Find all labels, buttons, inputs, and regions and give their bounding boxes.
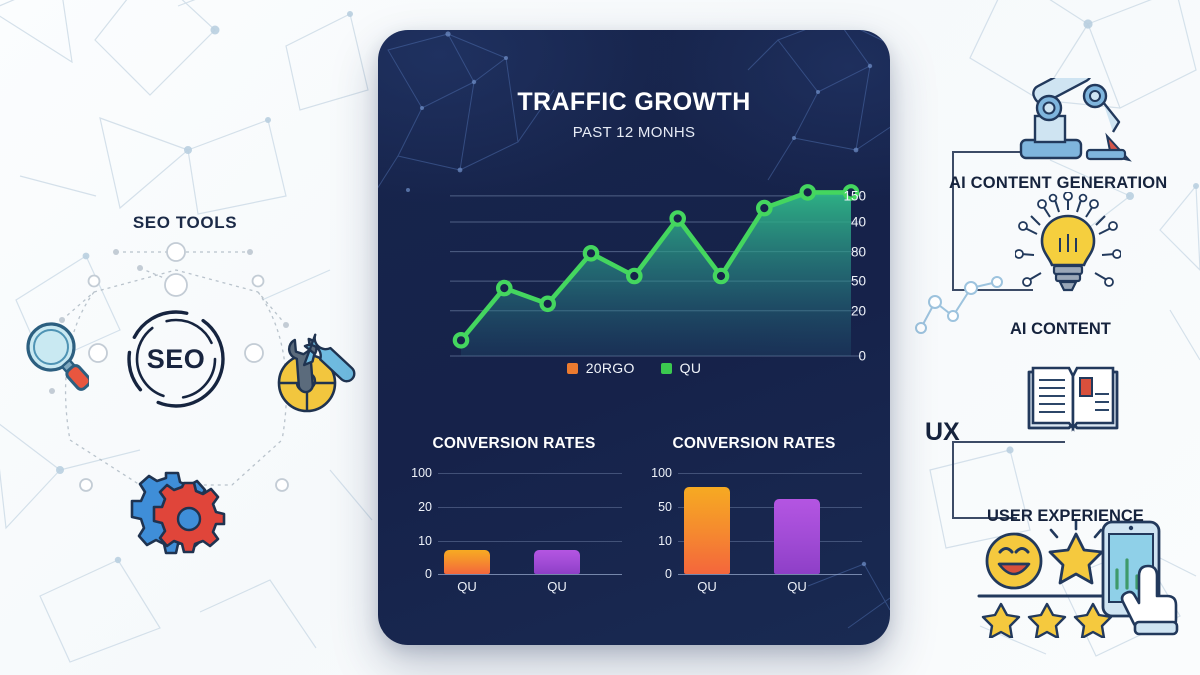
axis-baseline (438, 574, 622, 575)
data-point-3 (542, 298, 554, 310)
bar-1[interactable] (684, 487, 730, 574)
y-tick-label: 50 (640, 500, 672, 514)
traffic-growth-plot (450, 160, 862, 372)
legend-swatch (567, 363, 578, 374)
wrench-puzzle-icon (262, 323, 358, 419)
label-ux: UX (925, 418, 960, 447)
card-subtitle: PAST 12 MONHS (378, 124, 890, 141)
grid-line (678, 473, 862, 474)
legend-item[interactable]: QU (661, 360, 702, 376)
y-tick-label: 0 (640, 567, 672, 581)
x-tick-label: QU (677, 579, 737, 594)
data-point-6 (672, 212, 684, 224)
legend-swatch (661, 363, 672, 374)
y-tick-label: 20 (400, 500, 432, 514)
axis-baseline (678, 574, 862, 575)
data-point-1 (455, 334, 467, 346)
y-tick-label: 20 (832, 303, 866, 318)
y-tick-label: 50 (832, 274, 866, 289)
grid-line (438, 507, 622, 508)
x-tick-label: QU (767, 579, 827, 594)
magnifying-glass-icon (5, 317, 89, 401)
seo-badge: SEO (124, 307, 228, 411)
traffic-growth-legend: 20RGOQU (378, 360, 890, 376)
plot-area: 10020100 (400, 469, 628, 574)
grid-line (438, 541, 622, 542)
mini-node-graph-icon (913, 266, 1013, 342)
y-tick-label: 10 (640, 534, 672, 548)
phone-tap-icon (1095, 518, 1191, 638)
data-point-7 (715, 270, 727, 282)
plot-area: 10050100 (640, 469, 868, 574)
card-title: TRAFFIC GROWTH (378, 88, 890, 117)
y-tick-label: 100 (400, 466, 432, 480)
y-tick-label: 100 (640, 466, 672, 480)
legend-label: QU (680, 360, 702, 376)
robot-arm-icon (1003, 78, 1143, 170)
seo-tools-cluster: SEO TOOLS (0, 195, 370, 575)
lightbulb-idea-icon (1015, 192, 1121, 306)
y-tick-label: 0 (400, 567, 432, 581)
bar-2[interactable] (534, 550, 580, 574)
data-point-8 (758, 202, 770, 214)
bar-2[interactable] (774, 499, 820, 574)
x-tick-label: QU (527, 579, 587, 594)
chart-title: CONVERSION RATES (400, 435, 628, 453)
x-tick-label: QU (437, 579, 497, 594)
label-user-experience: USER EXPERIENCE (987, 507, 1144, 526)
label-ai-content-generation: AI CONTENT GENERATION (949, 174, 1167, 193)
chart-title: CONVERSION RATES (640, 435, 868, 453)
open-book-icon (1023, 360, 1123, 440)
legend-item[interactable]: 20RGO (567, 360, 635, 376)
conversion-rates-right-chart: CONVERSION RATES 10050100 QUQU (640, 435, 868, 610)
seo-badge-label: SEO (124, 307, 228, 411)
y-tick-label: 80 (832, 244, 866, 259)
gears-icon (130, 465, 240, 561)
bar-1[interactable] (444, 550, 490, 574)
data-point-5 (628, 270, 640, 282)
grid-line (438, 473, 622, 474)
legend-label: 20RGO (586, 360, 635, 376)
data-point-4 (585, 247, 597, 259)
y-tick-label: 150 (832, 188, 866, 203)
infographic-stage: SEO TOOLS (0, 0, 1200, 675)
y-tick-label: 10 (400, 534, 432, 548)
conversion-rates-left-chart: CONVERSION RATES 10020100 QUQU (400, 435, 628, 610)
dashboard-card: TRAFFIC GROWTH PAST 12 MONHS 15040805020… (378, 30, 890, 645)
data-point-9 (802, 186, 814, 198)
data-point-2 (498, 282, 510, 294)
label-ai-content: AI CONTENT (1010, 320, 1111, 339)
right-feature-column: AI CONTENT GENERATION AI CONTENT UX USER… (905, 70, 1200, 600)
smiley-face-icon (983, 530, 1045, 592)
y-tick-label: 40 (832, 215, 866, 230)
